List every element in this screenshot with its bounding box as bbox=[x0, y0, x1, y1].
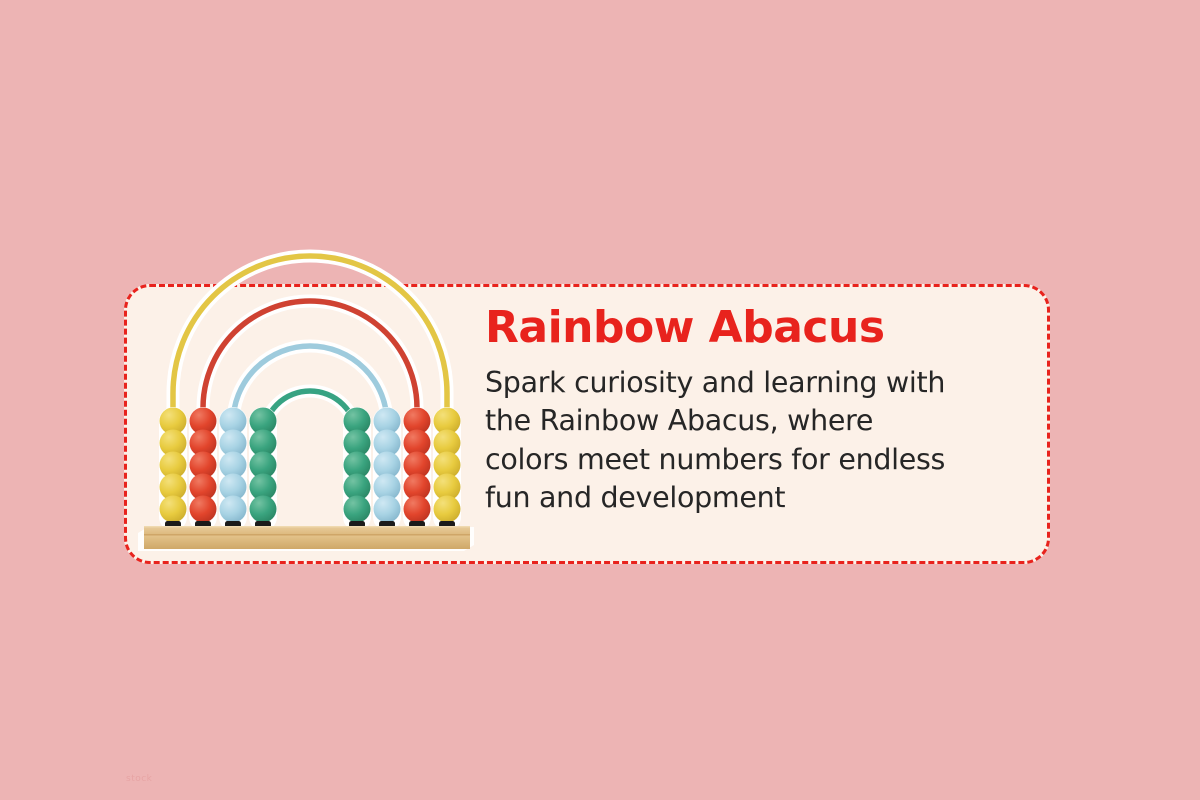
product-description: Spark curiosity and learning with the Ra… bbox=[485, 364, 1015, 518]
page-title: Rainbow Abacus bbox=[485, 306, 1015, 350]
page-canvas: Rainbow Abacus Spark curiosity and learn… bbox=[0, 0, 1200, 800]
corner-watermark: stock bbox=[126, 774, 152, 784]
product-text-block: Rainbow Abacus Spark curiosity and learn… bbox=[485, 306, 1015, 518]
